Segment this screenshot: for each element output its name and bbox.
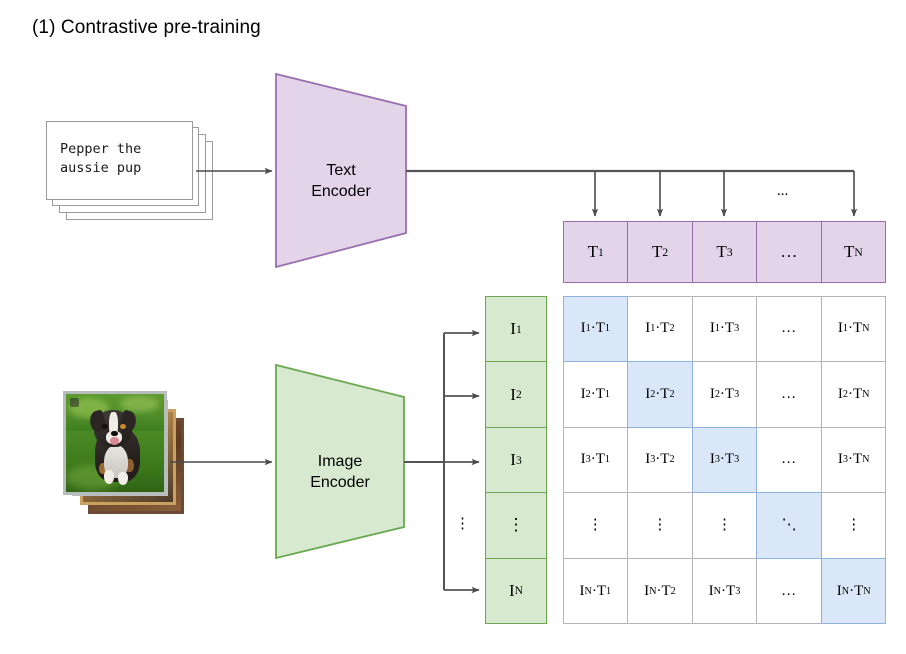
similarity-cell-IN-T3: IN·T3 <box>692 558 758 625</box>
image-embedding-cell-N: IN <box>485 558 547 624</box>
text-embedding-cell-ellipsis: … <box>756 221 821 283</box>
image-embedding-cell-ellipsis: ⋮ <box>485 492 547 558</box>
similarity-cell-IN-T2: IN·T2 <box>627 558 693 625</box>
image-embedding-cell-2: I2 <box>485 361 547 427</box>
image-encoder-label: Image Encoder <box>276 451 404 493</box>
similarity-cell-row-ellipsis: … <box>756 296 822 363</box>
similarity-cell-I2-T2: I2·T2 <box>627 361 693 428</box>
text-embedding-cell-3: T3 <box>692 221 757 283</box>
similarity-cell-row-ellipsis: … <box>756 558 822 625</box>
similarity-cell-IN-T1: IN·T1 <box>563 558 629 625</box>
similarity-cell-I1-T3: I1·T3 <box>692 296 758 363</box>
text-embedding-cell-2: T2 <box>627 221 692 283</box>
similarity-cell-I3-TN: I3·TN <box>821 427 887 494</box>
similarity-cell-I1-T1: I1·T1 <box>563 296 629 363</box>
image-bus-ellipsis: ⋮ <box>455 514 470 533</box>
similarity-cell-I2-T3: I2·T3 <box>692 361 758 428</box>
similarity-cell-row-ellipsis: … <box>756 427 822 494</box>
text-bus-ellipsis: ... <box>777 183 788 200</box>
similarity-cell-I2-T1: I2·T1 <box>563 361 629 428</box>
text-encoder-label: Text Encoder <box>276 160 406 202</box>
similarity-cell-column-ellipsis: ⋮ <box>563 492 629 559</box>
image-embedding-cell-1: I1 <box>485 296 547 362</box>
similarity-cell-diagonal-ellipsis: ⋱ <box>756 492 822 559</box>
similarity-cell-I1-T2: I1·T2 <box>627 296 693 363</box>
similarity-cell-column-ellipsis: ⋮ <box>627 492 693 559</box>
image-embedding-cell-3: I3 <box>485 427 547 493</box>
text-embedding-cell-N: TN <box>821 221 886 283</box>
clip-contrastive-pretraining-diagram: (1) Contrastive pre-training Pepper the … <box>0 0 906 654</box>
similarity-cell-I3-T1: I3·T1 <box>563 427 629 494</box>
similarity-cell-IN-TN: IN·TN <box>821 558 887 625</box>
similarity-cell-I1-TN: I1·TN <box>821 296 887 363</box>
text-embedding-cell-1: T1 <box>563 221 628 283</box>
similarity-cell-row-ellipsis: … <box>756 361 822 428</box>
similarity-cell-I3-T3: I3·T3 <box>692 427 758 494</box>
similarity-cell-I2-TN: I2·TN <box>821 361 887 428</box>
similarity-cell-column-ellipsis: ⋮ <box>821 492 887 559</box>
similarity-cell-column-ellipsis: ⋮ <box>692 492 758 559</box>
similarity-matrix: I1·T1I1·T2I1·T3…I1·TNI2·T1I2·T2I2·T3…I2·… <box>563 296 886 624</box>
text-embedding-row: T1T2T3…TN <box>563 221 886 283</box>
image-embedding-column: I1I2I3⋮IN <box>485 296 547 624</box>
similarity-cell-I3-T2: I3·T2 <box>627 427 693 494</box>
